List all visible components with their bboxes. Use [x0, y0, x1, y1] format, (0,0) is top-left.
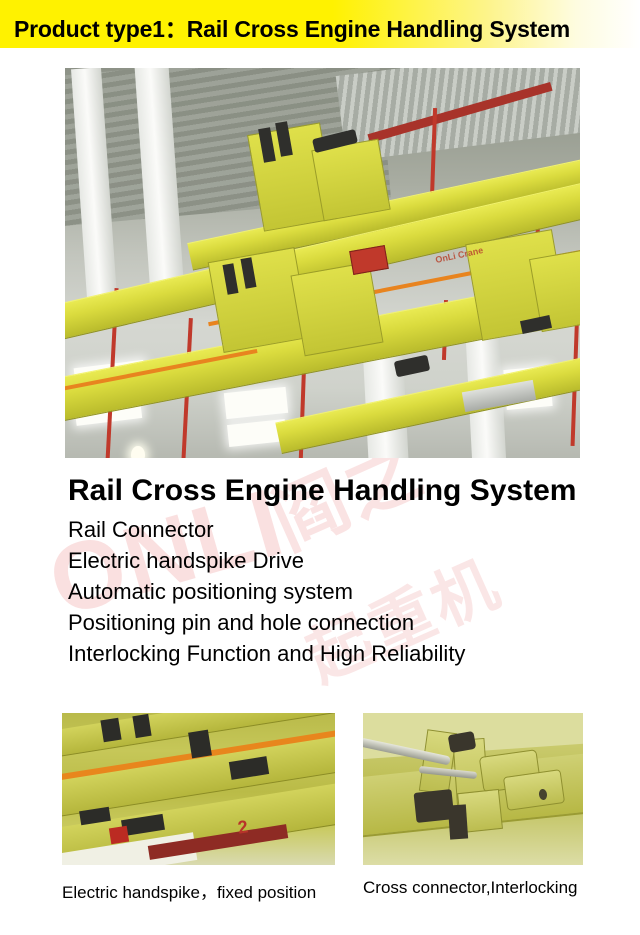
title-separator: ：: [165, 16, 187, 42]
thumbnail-cross-connector: [363, 713, 583, 865]
product-description-block: Rail Cross Engine Handling System Rail C…: [68, 472, 608, 669]
red-component: [109, 826, 129, 845]
dark-fitting: [132, 714, 151, 738]
feature-item: Interlocking Function and High Reliabili…: [68, 638, 608, 669]
dark-fitting: [100, 718, 121, 743]
product-title: Rail Cross Engine Handling System: [68, 472, 608, 510]
header-banner: Product type1：Rail Cross Engine Handling…: [0, 0, 640, 48]
thumbnail-caption-left: Electric handspike，fixed position: [62, 878, 316, 903]
page-title: Product type1：Rail Cross Engine Handling…: [14, 10, 570, 44]
feature-item: Rail Connector: [68, 514, 608, 545]
feature-item: Positioning pin and hole connection: [68, 607, 608, 638]
feature-item: Electric handspike Drive: [68, 545, 608, 576]
feature-item: Automatic positioning system: [68, 576, 608, 607]
product-type-label: Product type1: [14, 16, 165, 42]
dark-fitting: [448, 804, 468, 839]
thumbnail-caption-right: Cross connector,Interlocking: [363, 878, 578, 898]
machinery-block: [290, 262, 383, 357]
hanging-lamp: [131, 446, 145, 458]
dark-fitting: [188, 730, 212, 759]
main-product-photo: OnLi Crane: [65, 68, 580, 458]
product-type-name: Rail Cross Engine Handling System: [187, 16, 570, 42]
thumbnail-electric-handspike: 2: [62, 713, 335, 865]
